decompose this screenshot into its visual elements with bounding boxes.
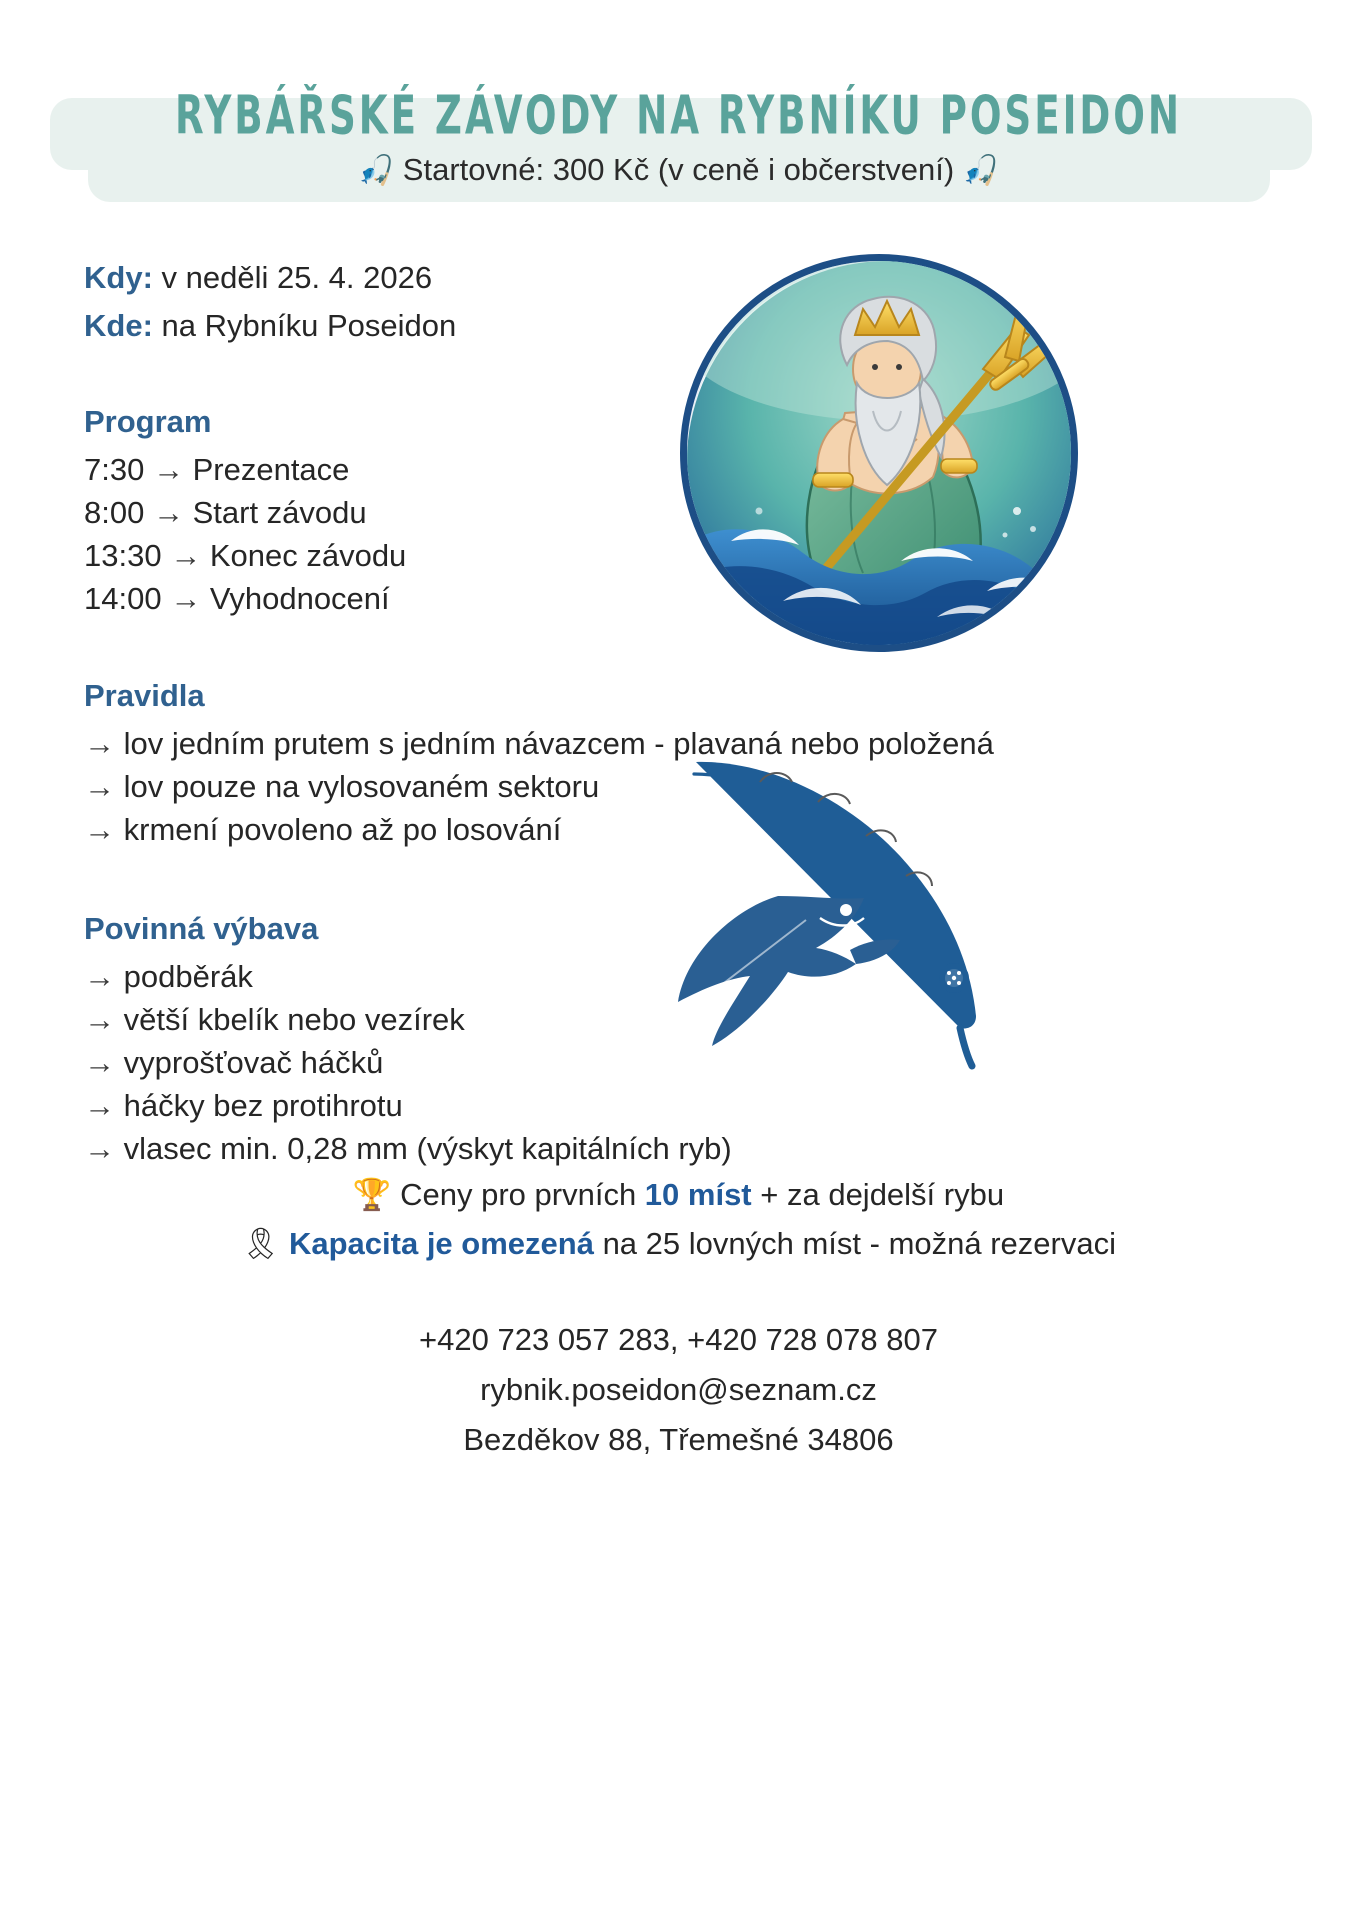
program-activity: Vyhodnocení — [210, 581, 390, 616]
equipment-item: → vyprošťovač háčků — [84, 1041, 1284, 1084]
arrow-icon: → — [170, 581, 201, 616]
arrow-icon: → — [84, 726, 115, 761]
equipment-item-text: háčky bez protihrotu — [124, 1088, 403, 1123]
entry-fee-subtitle: 🎣 Startovné: 300 Kč (v ceně i občerstven… — [0, 152, 1357, 188]
contact-phones[interactable]: +420 723 057 283, +420 728 078 807 — [0, 1315, 1357, 1365]
ribbon-icon: 🎗 — [241, 1226, 280, 1261]
when-value: v neděli 25. 4. 2026 — [162, 260, 433, 295]
arrow-icon: → — [84, 769, 115, 804]
arrow-icon: → — [84, 1002, 115, 1037]
equipment-item: → podběrák — [84, 955, 1284, 998]
rules-item-text: lov pouze na vylosovaném sektoru — [124, 769, 600, 804]
equipment-item: → vlasec min. 0,28 mm (výskyt kapitálníc… — [84, 1127, 1284, 1170]
equipment-item-text: větší kbelík nebo vezírek — [124, 1002, 465, 1037]
program-list: 7:30 → Prezentace 8:00 → Start závodu 13… — [84, 448, 1284, 620]
program-time: 7:30 — [84, 452, 144, 487]
trophy-icon: 🏆 — [353, 1177, 392, 1212]
program-activity: Start závodu — [193, 495, 367, 530]
rules-heading: Pravidla — [84, 676, 1284, 716]
arrow-icon: → — [84, 1045, 115, 1080]
program-item: 13:30 → Konec závodu — [84, 534, 1284, 577]
program-activity: Konec závodu — [210, 538, 406, 573]
program-activity: Prezentace — [193, 452, 350, 487]
program-item: 14:00 → Vyhodnocení — [84, 577, 1284, 620]
prizes-count: 10 míst — [645, 1177, 752, 1212]
equipment-item: → větší kbelík nebo vezírek — [84, 998, 1284, 1041]
arrow-icon: → — [170, 538, 201, 573]
equipment-heading: Povinná výbava — [84, 909, 1284, 949]
program-item: 8:00 → Start závodu — [84, 491, 1284, 534]
program-section: Program 7:30 → Prezentace 8:00 → Start z… — [84, 402, 1284, 620]
page-title: RYBÁŘSKÉ ZÁVODY NA RYBNÍKU POSEIDON — [54, 84, 1302, 147]
fishing-pole-icon-left: 🎣 — [358, 155, 394, 187]
capacity-note: 🎗 Kapacita je omezená na 25 lovných míst… — [0, 1219, 1357, 1268]
notes-block: 🏆 Ceny pro prvních 10 míst + za dejdelší… — [0, 1170, 1357, 1268]
arrow-icon: → — [84, 959, 115, 994]
capacity-post-text: na 25 lovných míst - možná rezervaci — [594, 1226, 1116, 1261]
program-heading: Program — [84, 402, 1284, 442]
program-time: 13:30 — [84, 538, 162, 573]
prizes-post-text: + za dejdelší rybu — [752, 1177, 1004, 1212]
arrow-icon: → — [153, 495, 184, 530]
where-label: Kde: — [84, 308, 153, 343]
program-item: 7:30 → Prezentace — [84, 448, 1284, 491]
arrow-icon: → — [84, 812, 115, 847]
rules-item: → lov jedním prutem s jedním návazcem - … — [84, 722, 1284, 765]
entry-fee-text: Startovné: 300 Kč (v ceně i občerstvení) — [403, 152, 954, 187]
rules-item-text: krmení povoleno až po losování — [124, 812, 562, 847]
contact-address: Bezděkov 88, Třemešné 34806 — [0, 1415, 1357, 1465]
equipment-item-text: podběrák — [124, 959, 253, 994]
program-time: 14:00 — [84, 581, 162, 616]
rules-section: Pravidla → lov jedním prutem s jedním ná… — [84, 676, 1284, 851]
contact-email[interactable]: rybnik.poseidon@seznam.cz — [0, 1365, 1357, 1415]
rules-item: → krmení povoleno až po losování — [84, 808, 1284, 851]
contact-block: +420 723 057 283, +420 728 078 807 rybni… — [0, 1315, 1357, 1465]
arrow-icon: → — [84, 1131, 115, 1166]
program-time: 8:00 — [84, 495, 144, 530]
equipment-item: → háčky bez protihrotu — [84, 1084, 1284, 1127]
arrow-icon: → — [153, 452, 184, 487]
fishing-pole-icon-right: 🎣 — [963, 155, 999, 187]
prizes-note: 🏆 Ceny pro prvních 10 míst + za dejdelší… — [0, 1170, 1357, 1219]
event-details: Kdy: v neděli 25. 4. 2026 Kde: na Rybník… — [84, 254, 1284, 350]
rules-item: → lov pouze na vylosovaném sektoru — [84, 765, 1284, 808]
poster-text-column: Kdy: v neděli 25. 4. 2026 Kde: na Rybník… — [84, 240, 1284, 1170]
prizes-pre-text: Ceny pro prvních — [400, 1177, 645, 1212]
when-label: Kdy: — [84, 260, 153, 295]
equipment-item-text: vlasec min. 0,28 mm (výskyt kapitálních … — [124, 1131, 732, 1166]
equipment-list: → podběrák → větší kbelík nebo vezírek →… — [84, 955, 1284, 1170]
arrow-icon: → — [84, 1088, 115, 1123]
poster-header: RYBÁŘSKÉ ZÁVODY NA RYBNÍKU POSEIDON 🎣 St… — [0, 0, 1357, 240]
rules-item-text: lov jedním prutem s jedním návazcem - pl… — [124, 726, 994, 761]
equipment-section: Povinná výbava → podběrák → větší kbelík… — [84, 909, 1284, 1170]
equipment-item-text: vyprošťovač háčků — [124, 1045, 384, 1080]
capacity-strong-text: Kapacita je omezená — [289, 1226, 594, 1261]
rules-list: → lov jedním prutem s jedním návazcem - … — [84, 722, 1284, 851]
poster-body: Kdy: v neděli 25. 4. 2026 Kde: na Rybník… — [0, 240, 1357, 1920]
event-when-line: Kdy: v neděli 25. 4. 2026 — [84, 254, 1284, 302]
where-value: na Rybníku Poseidon — [162, 308, 457, 343]
event-where-line: Kde: na Rybníku Poseidon — [84, 302, 1284, 350]
